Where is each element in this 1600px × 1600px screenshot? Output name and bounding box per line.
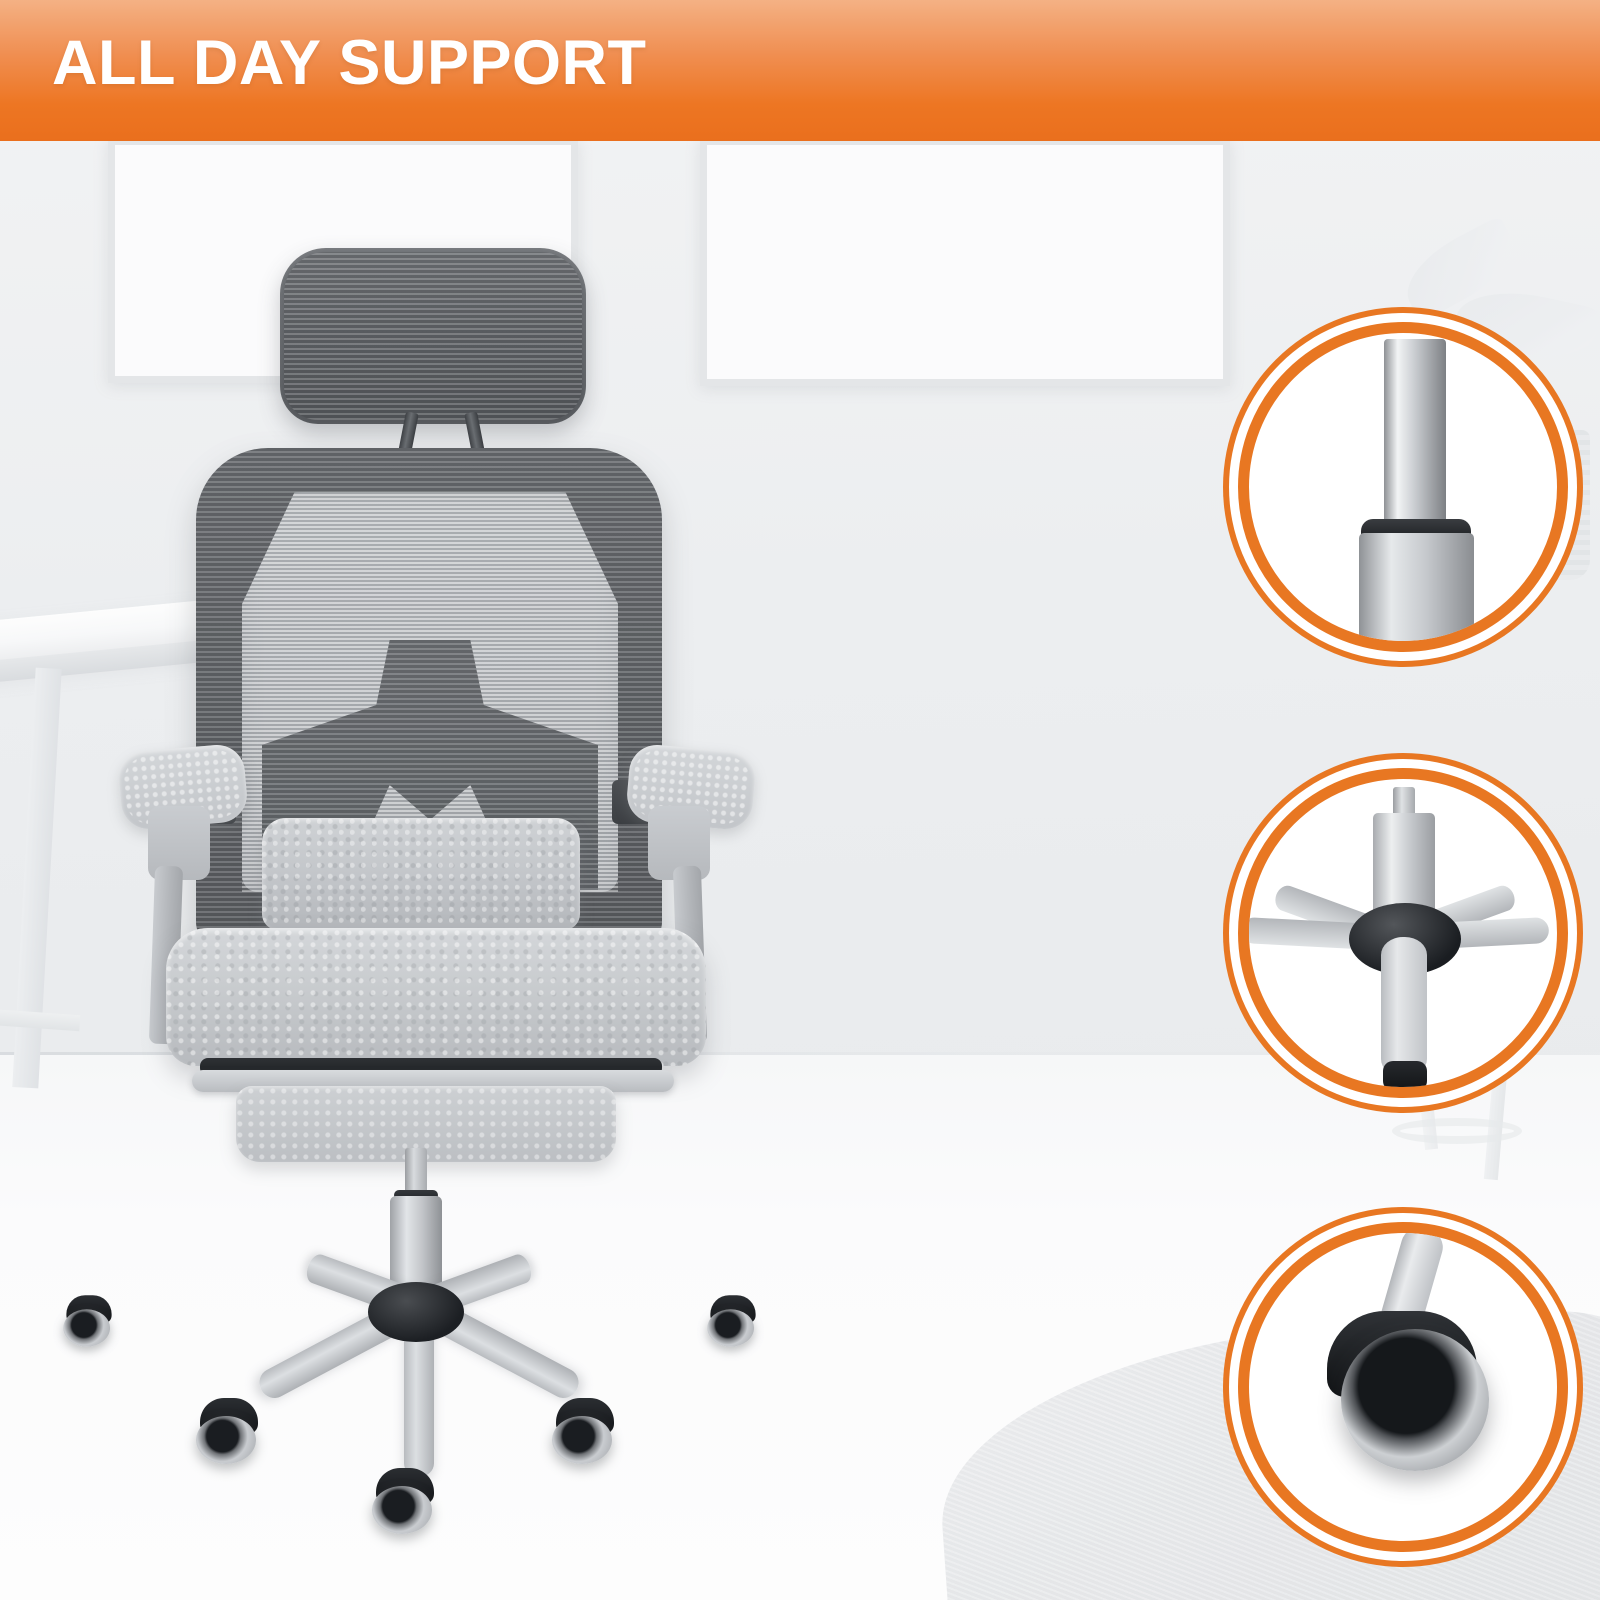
stool-footring <box>1392 1118 1522 1144</box>
seat-cushion <box>166 928 706 1066</box>
caster-wheel <box>707 1295 758 1346</box>
lumbar-cushion <box>262 818 580 930</box>
base-front-leg-icon <box>1381 937 1427 1077</box>
gas-cylinder-body-icon <box>1359 533 1474 652</box>
chair-base-photo-circle <box>1238 768 1568 1098</box>
gas-cylinder-rod <box>405 1148 427 1194</box>
caster-wheel-icon <box>1341 1329 1489 1471</box>
chair-headrest <box>280 248 586 424</box>
gas-cylinder-rod-icon <box>1384 339 1446 529</box>
base-caster-icon <box>1383 1061 1427 1091</box>
caster-wheel <box>196 1398 262 1464</box>
caster-wheel <box>63 1295 114 1346</box>
caster-photo-circle <box>1238 1222 1568 1552</box>
caster-wheel <box>372 1468 438 1534</box>
caster-wheel <box>552 1398 618 1464</box>
base-hub <box>368 1282 464 1342</box>
header-banner: ALL DAY SUPPORT <box>0 0 1600 141</box>
gas-cylinder-photo-circle <box>1238 322 1568 652</box>
page-title: ALL DAY SUPPORT <box>52 27 646 99</box>
office-chair <box>0 0 860 1600</box>
